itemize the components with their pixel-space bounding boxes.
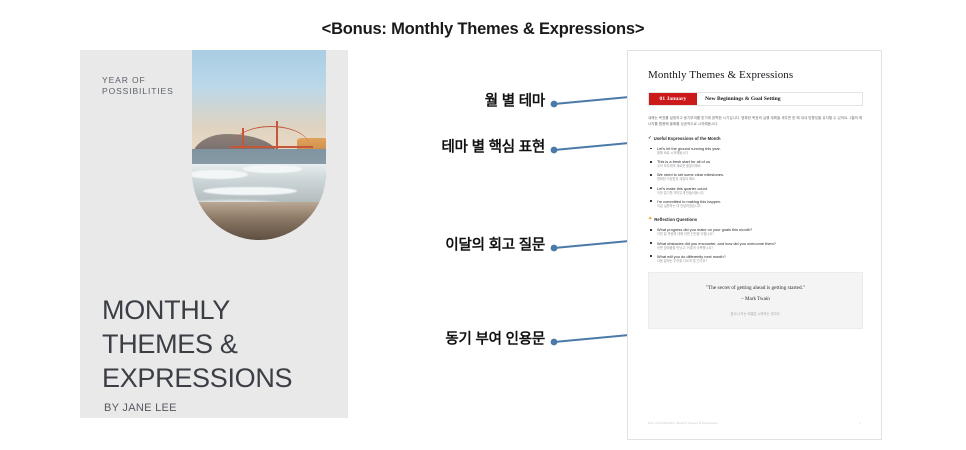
cover-author: BY JANE LEE: [104, 402, 177, 414]
photo-beach-sand: [192, 202, 326, 240]
star-icon: ✦: [648, 217, 652, 222]
month-badge: 01 January: [649, 93, 697, 105]
annotation-callout: 동기 부여 인용문: [380, 329, 645, 347]
item-korean: 이번 달 목표에 대해 어떤 진전을 이뤘나요?: [657, 232, 863, 237]
annotation-label: 동기 부여 인용문: [445, 328, 545, 349]
photo-foam: [243, 165, 302, 173]
list-item: This is a fresh start for all of us.우리 모…: [648, 159, 863, 169]
item-korean: 이번 분기를 의미있게 만들어봅시다.: [657, 191, 863, 196]
quote-translation: 앞서 나가는 비결은 시작하는 것이다.: [657, 311, 854, 316]
cover-photo-golden-gate: [192, 50, 326, 240]
footer-title: Year of Possibilities: Monthly Themes & …: [648, 421, 718, 425]
quote-author: – Mark Twain: [657, 296, 854, 302]
item-korean: 명확한 이정표를 세워야 해요.: [657, 177, 863, 182]
list-item: Let's make this quarter count.이번 분기를 의미있…: [648, 186, 863, 196]
reflection-list: What progress did you make on your goals…: [648, 227, 863, 263]
annotation-label: 월 별 테마: [485, 90, 545, 111]
annotation-callout: 이달의 회고 질문: [380, 235, 645, 253]
slide-canvas: <Bonus: Monthly Themes & Expressions> YE…: [0, 0, 966, 450]
cover-kicker: YEAR OF POSSIBILITIES: [102, 75, 174, 97]
annotation-label: 테마 별 핵심 표현: [442, 136, 545, 157]
motivational-quote-box: "The secret of getting ahead is getting …: [648, 272, 863, 329]
list-item: What will you do differently next month?…: [648, 254, 863, 264]
expressions-section-heading: ✓ Useful Expressions of the Month: [648, 135, 863, 141]
item-korean: 우리 모두에게 새로운 출발이에요.: [657, 164, 863, 169]
item-korean: 올해 바로 시작해봅시다.: [657, 151, 863, 156]
intro-paragraph: 새해는 목표를 설정하고 동기부여를 받기에 완벽한 시기입니다. 명확한 목표…: [648, 115, 863, 127]
list-item: What progress did you make on your goals…: [648, 227, 863, 237]
item-korean: 이걸 실현하는 데 전념하겠습니다.: [657, 204, 863, 209]
page-title: <Bonus: Monthly Themes & Expressions>: [0, 20, 966, 39]
photo-bridge-tower-left: [242, 128, 244, 149]
document-preview-page: Monthly Themes & Expressions 01 January …: [627, 50, 882, 440]
cover-title: MONTHLY THEMES & EXPRESSIONS: [102, 293, 292, 395]
footer-page-number: 1: [859, 421, 861, 425]
reflection-section-heading: ✦ Reflection Questions: [648, 217, 863, 222]
expressions-list: Let's hit the ground running this year.올…: [648, 146, 863, 208]
item-korean: 다음 달에는 무엇을 다르게 할 건가요?: [657, 259, 863, 264]
annotation-callout: 월 별 테마: [380, 91, 645, 109]
list-item: What obstacles did you encounter, and ho…: [648, 241, 863, 251]
annotation-callout: 테마 별 핵심 표현: [380, 137, 645, 155]
photo-bridge-tower-right: [276, 121, 278, 149]
monthly-theme-row: 01 January New Beginnings & Goal Setting: [648, 92, 863, 106]
check-icon: ✓: [648, 135, 652, 141]
list-item: Let's hit the ground running this year.올…: [648, 146, 863, 156]
list-item: I'm committed to making this happen.이걸 실…: [648, 199, 863, 209]
expressions-heading-label: Useful Expressions of the Month: [654, 136, 721, 141]
document-content: Monthly Themes & Expressions 01 January …: [648, 69, 863, 329]
item-korean: 어떤 장애물을 만났고, 어떻게 극복했나요?: [657, 246, 863, 251]
book-cover: YEAR OF POSSIBILITIES MONTHLY THEMES & E…: [80, 50, 348, 418]
annotation-label: 이달의 회고 질문: [445, 234, 545, 255]
list-item: We need to set some clear milestones.명확한…: [648, 172, 863, 182]
document-footer: Year of Possibilities: Monthly Themes & …: [648, 421, 861, 425]
quote-text: "The secret of getting ahead is getting …: [657, 284, 854, 292]
theme-name: New Beginnings & Goal Setting: [697, 93, 862, 105]
reflection-heading-label: Reflection Questions: [654, 217, 697, 222]
document-heading: Monthly Themes & Expressions: [648, 69, 863, 81]
